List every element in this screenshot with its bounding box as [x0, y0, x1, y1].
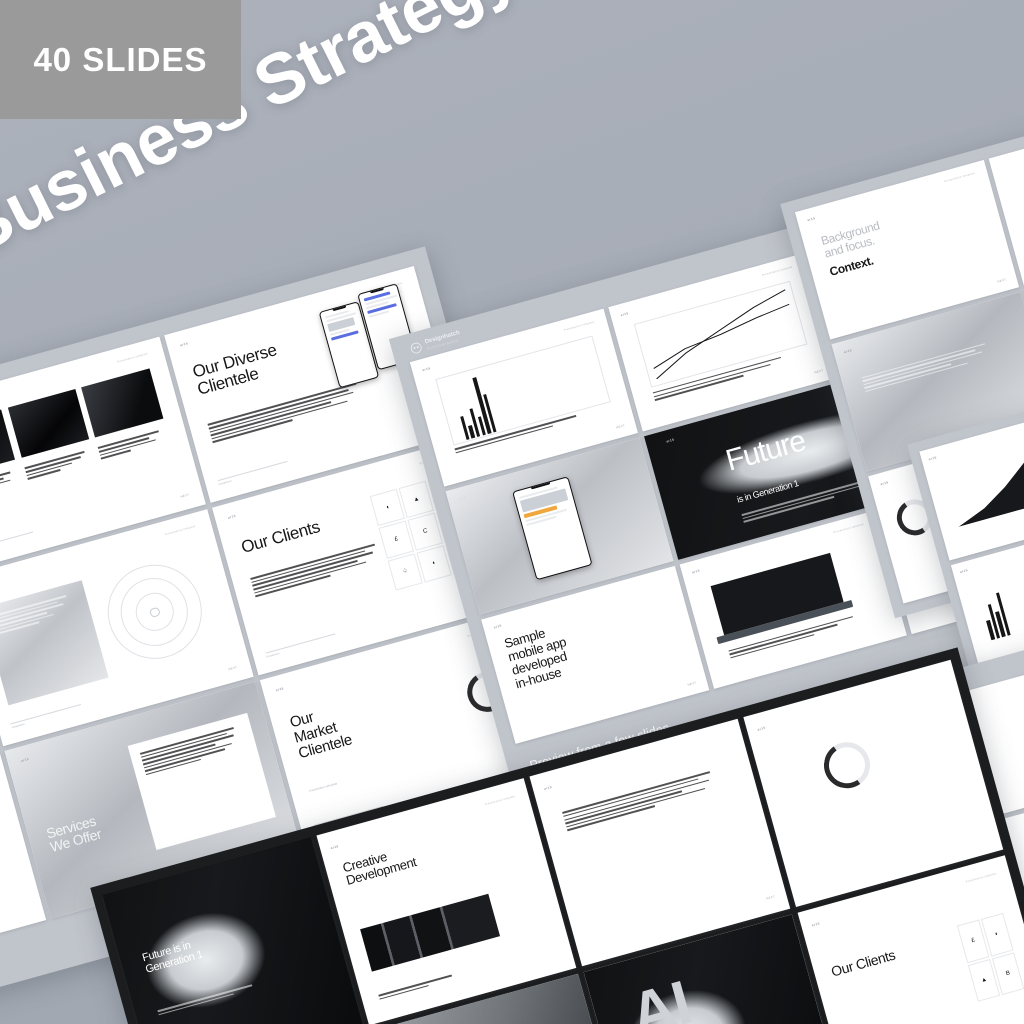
body-paragraph: [0, 470, 20, 502]
slide-top-tag: Presentation template: [117, 353, 148, 364]
bar-series: [450, 343, 597, 440]
slide-logo: ar15: [691, 569, 700, 575]
slide-top-tag: Presentation template: [966, 872, 997, 883]
next-button[interactable]: NEXT: [766, 894, 776, 900]
product-photo: [82, 368, 163, 437]
donut-chart: [821, 739, 874, 792]
slide-title: Background and focus.: [820, 220, 885, 261]
slides-count-badge: 40 SLIDES: [0, 0, 241, 119]
slide-title: Our Market Clientele: [288, 701, 354, 762]
next-button[interactable]: NEXT: [814, 368, 824, 374]
slide-top-tag: Presentation template: [564, 321, 595, 332]
slide-title: Sample mobile app developed in-house: [503, 594, 676, 692]
slide-area-chart[interactable]: ar15: [919, 415, 1024, 560]
chart-frame: [634, 281, 808, 388]
body-paragraph: [250, 542, 386, 599]
slide-logo: ar15: [493, 624, 502, 630]
radar-rings: [97, 554, 212, 669]
next-button[interactable]: NEXT: [687, 680, 697, 686]
slide-logo: ar15: [422, 366, 431, 372]
slide-top-tag: Presentation template: [484, 795, 515, 806]
next-button[interactable]: NEXT: [997, 277, 1007, 283]
slide-title: Our Clients: [239, 518, 322, 557]
poster-canvas: ar15 Presentation template Designhatch N…: [0, 0, 1024, 1024]
slide-logo: ar15: [757, 725, 766, 731]
slide-title: Creative Development: [341, 842, 418, 888]
slide-top-tag: Presentation template: [944, 172, 975, 183]
area-chart: [942, 446, 1024, 527]
slide-logo: ar15: [330, 844, 339, 850]
slide-footer: Designhatch: [265, 633, 337, 658]
slide-top-tag: Presentation template: [165, 525, 196, 536]
slide-logo: ar15: [928, 455, 937, 461]
slides-count-label: 40 SLIDES: [33, 41, 207, 79]
slide-footer: Designhatch: [0, 532, 34, 557]
slide-logo: ar15: [227, 514, 236, 520]
body-paragraph: [98, 429, 167, 461]
bar-series: [978, 587, 1011, 640]
client-icon-grid: £ ◐ ▲ B: [957, 913, 1024, 1002]
next-button[interactable]: NEXT: [616, 423, 626, 429]
slide-logo: ar15: [544, 785, 553, 791]
line-series: [635, 282, 807, 387]
slide-subtitle: Presentation template: [309, 782, 338, 794]
image-strip: [360, 894, 500, 971]
slide-top-tag: Presentation template: [762, 266, 793, 277]
slide-logo: ar15: [180, 341, 189, 347]
body-paragraph: [207, 381, 368, 445]
area-series: [942, 446, 1024, 527]
body-paragraph: [25, 450, 94, 482]
slide-logo: ar15: [807, 216, 816, 222]
body-paragraph: [378, 972, 463, 1002]
big-letter: A: [1016, 143, 1024, 213]
slide-logo: ar15: [880, 480, 889, 486]
product-photo: [8, 389, 89, 458]
slide-footer: Designhatch: [218, 461, 290, 486]
slide-logo: ar15: [811, 921, 820, 927]
slide-logo: ar15: [620, 311, 629, 317]
owl-mark-icon: [409, 341, 424, 356]
body-paragraph: [562, 769, 726, 834]
slide-logo: ar15: [959, 568, 968, 574]
slide-top-tag: Presentation template: [833, 523, 864, 534]
slide-logo: ar15: [275, 686, 284, 692]
next-button[interactable]: NEXT: [228, 665, 238, 671]
slide-footer: Designhatch: [11, 704, 83, 729]
slide-title: Our Diverse Clientele: [191, 328, 331, 399]
next-button[interactable]: NEXT: [180, 492, 190, 498]
slide-title: Our Clients: [830, 948, 897, 980]
